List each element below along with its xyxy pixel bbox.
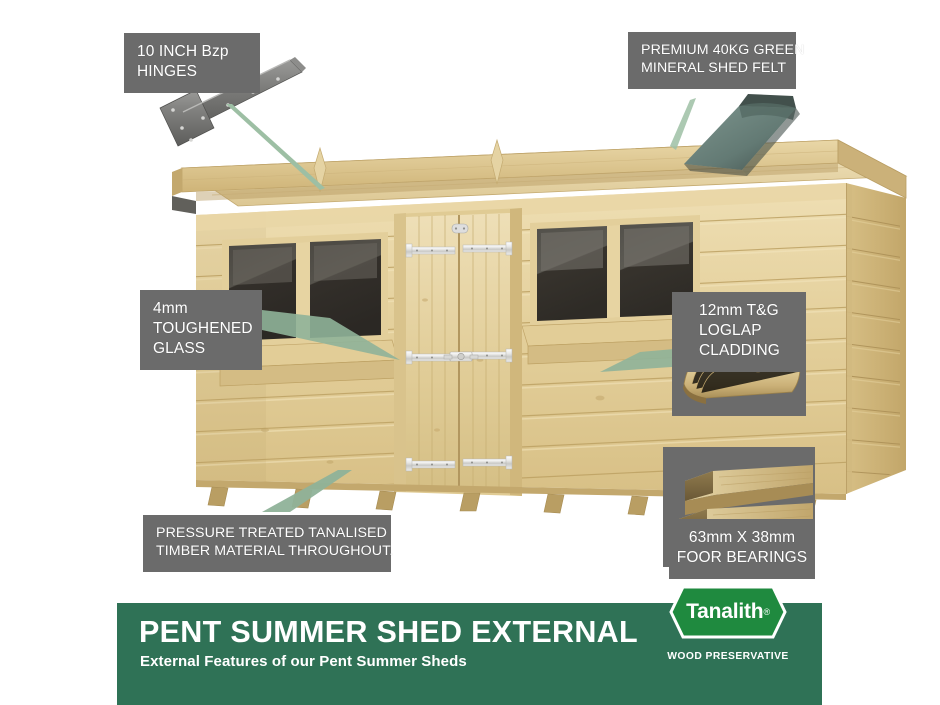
callout-pressure-line-2: TIMBER MATERIAL THROUGHOUT. xyxy=(156,542,378,560)
logo-badge-shape: Tanalith® xyxy=(669,585,787,639)
callout-felt: PREMIUM 40KG GREEN MINERAL SHED FELT xyxy=(628,32,796,89)
callout-bearings: 63mm X 38mm FOOR BEARINGS xyxy=(669,519,815,579)
callout-cladding: 12mm T&G LOGLAP CLADDING xyxy=(686,292,804,372)
pointer-hinges xyxy=(226,104,325,190)
callout-hinges-line-1: 10 INCH Bzp xyxy=(137,42,247,62)
callout-cladding-line-3: CLADDING xyxy=(699,341,791,361)
logo-wordmark: Tanalith® xyxy=(669,585,787,639)
callout-felt-line-1: PREMIUM 40KG GREEN xyxy=(641,41,783,59)
callout-felt-line-2: MINERAL SHED FELT xyxy=(641,59,783,77)
page-title: PENT SUMMER SHED EXTERNAL xyxy=(139,617,638,648)
pointer-pressure xyxy=(262,470,352,512)
callout-bearings-line-2: FOOR BEARINGS xyxy=(675,548,809,568)
tanalith-logo: Tanalith® WOOD PRESERVATIVE xyxy=(662,585,794,681)
callout-bearings-line-1: 63mm X 38mm xyxy=(675,528,809,548)
pointer-felt xyxy=(670,98,696,150)
callout-cladding-line-2: LOGLAP xyxy=(699,321,791,341)
logo-name-text: Tanalith xyxy=(686,600,763,624)
footer-banner: PENT SUMMER SHED EXTERNAL External Featu… xyxy=(117,603,822,705)
pointer-glass xyxy=(262,310,400,360)
callout-pressure-line-1: PRESSURE TREATED TANALISED xyxy=(156,524,378,542)
callout-glass-line-1: 4mm xyxy=(153,299,249,319)
callout-hinges: 10 INCH Bzp HINGES xyxy=(124,33,260,93)
callout-glass: 4mm TOUGHENED GLASS xyxy=(140,290,262,370)
callout-glass-line-3: GLASS xyxy=(153,339,249,359)
callout-glass-line-2: TOUGHENED xyxy=(153,319,249,339)
registered-mark: ® xyxy=(763,607,769,617)
callout-cladding-line-1: 12mm T&G xyxy=(699,301,791,321)
callout-pressure: PRESSURE TREATED TANALISED TIMBER MATERI… xyxy=(143,515,391,572)
callout-hinges-line-2: HINGES xyxy=(137,62,247,82)
infographic-canvas: 10 INCH Bzp HINGES PREMIUM 40KG GREEN MI… xyxy=(0,0,940,705)
logo-tagline: WOOD PRESERVATIVE xyxy=(662,651,794,662)
page-subtitle: External Features of our Pent Summer She… xyxy=(140,653,467,670)
